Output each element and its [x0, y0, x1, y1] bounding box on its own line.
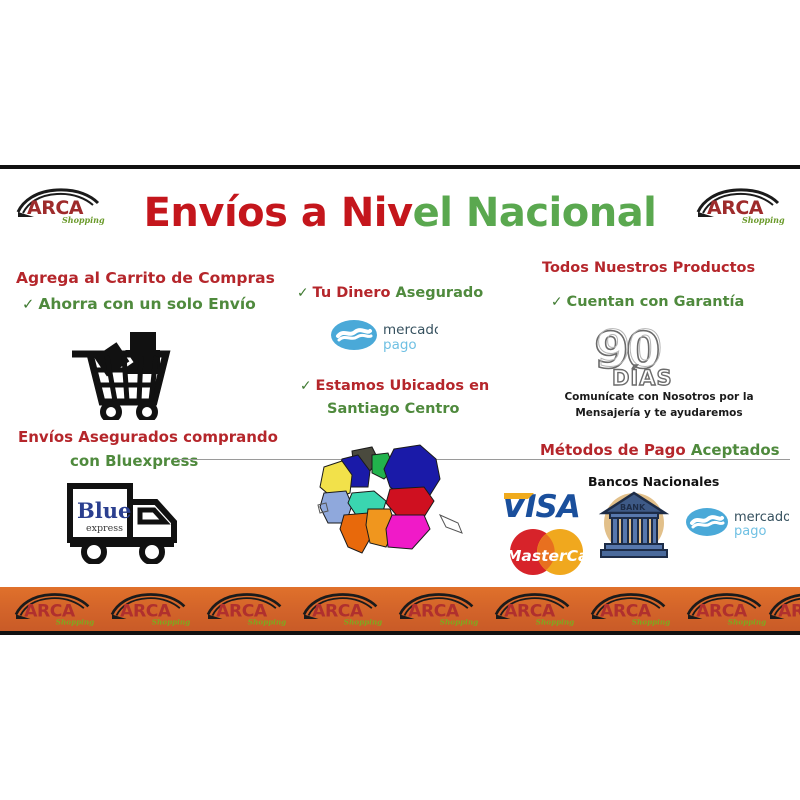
svg-text:MasterCard: MasterCard: [506, 547, 592, 565]
check-icon: ✓: [22, 296, 34, 313]
strip-arca-logo: ARCAShopping: [300, 591, 384, 629]
santiago-region-map: [312, 443, 467, 573]
payments-heading-red: Métodos de Pago: [540, 441, 691, 459]
mastercard-logo: MasterCard: [500, 528, 592, 581]
warranty-note: Comunícate con Nosotros por la Mensajerí…: [553, 390, 765, 422]
warranty-90-days-badge: 90 90 DÍAS: [592, 322, 696, 393]
svg-text:mercado: mercado: [383, 322, 438, 338]
svg-text:Shopping: Shopping: [536, 617, 574, 626]
svg-text:ARCA: ARCA: [778, 601, 800, 621]
mercado-pago-logo-center: mercado pago: [330, 318, 438, 363]
svg-text:Shopping: Shopping: [56, 617, 94, 626]
page-title-red: Envíos a Niv: [144, 190, 413, 236]
money-claim-green: Asegurado: [396, 285, 484, 301]
shipping-claim-line1-text: Envíos Asegurados comprando: [18, 428, 278, 446]
svg-text:express: express: [86, 523, 123, 534]
svg-text:Shopping: Shopping: [248, 617, 286, 626]
svg-text:Shopping: Shopping: [440, 617, 478, 626]
svg-text:Shopping: Shopping: [344, 617, 382, 626]
shipping-claim-line2-text: con Bluexpress: [70, 452, 198, 470]
shipping-claim-line1: Envíos Asegurados comprando: [18, 428, 278, 446]
strip-arca-logo: ARCAShopping: [396, 591, 480, 629]
location-claim-line1: ✓Estamos Ubicados en: [300, 378, 489, 394]
svg-text:pago: pago: [734, 524, 766, 539]
shipping-claim-line2: con Bluexpress: [70, 452, 198, 470]
svg-text:pago: pago: [383, 337, 417, 353]
visa-logo: VISA: [500, 487, 590, 530]
warranty-note-line2: Mensajería y te ayudaremos: [553, 406, 765, 422]
warranty-note-line1: Comunícate con Nosotros por la: [553, 390, 765, 406]
check-icon: ✓: [300, 378, 312, 394]
bottom-divider: [0, 631, 800, 635]
payments-heading-green: Aceptados: [691, 441, 780, 459]
page-title: Envíos a Nivel Nacional: [0, 192, 800, 234]
strip-arca-logo: ARCAShopping: [588, 591, 672, 629]
strip-arca-logo: ARCAShopping: [12, 591, 96, 629]
check-icon: ✓: [551, 294, 563, 310]
top-divider: [0, 165, 800, 169]
svg-text:mercado: mercado: [734, 510, 789, 525]
bank-icon: BANK: [597, 489, 671, 566]
warranty-claim-line2: ✓Cuentan con Garantía: [551, 294, 744, 310]
svg-text:BANK: BANK: [620, 503, 646, 512]
location-claim-line2: Santiago Centro: [327, 401, 459, 417]
money-claim-line1: ✓Tu Dinero Asegurado: [297, 285, 483, 301]
cart-claim-line1-text: Agrega al Carrito de Compras: [16, 269, 275, 287]
warranty-claim-line2-text: Cuentan con Garantía: [567, 294, 745, 310]
check-icon: ✓: [297, 285, 309, 301]
strip-arca-logo: ARCAShopping: [492, 591, 576, 629]
strip-arca-logo: ARCAShopping: [204, 591, 288, 629]
strip-arca-logo: ARCAShopping: [684, 591, 768, 629]
strip-arca-logo: ARCAShopping: [766, 591, 800, 629]
delivery-truck-icon: Blue express: [64, 478, 184, 569]
payments-heading: Métodos de Pago Aceptados: [540, 441, 780, 459]
shopping-cart-icon: [68, 328, 178, 425]
cart-claim-line2-text: Ahorra con un solo Envío: [38, 295, 255, 313]
money-claim-red: Tu Dinero: [313, 285, 396, 301]
banks-label: Bancos Nacionales: [588, 474, 719, 489]
warranty-claim-line1-text: Todos Nuestros Productos: [542, 260, 755, 276]
cart-claim-line2: ✓Ahorra con un solo Envío: [22, 295, 256, 313]
page-title-green: el Nacional: [413, 190, 657, 236]
svg-text:Shopping: Shopping: [728, 617, 766, 626]
cart-claim-line1: Agrega al Carrito de Compras: [16, 269, 275, 287]
warranty-claim-line1: Todos Nuestros Productos: [542, 260, 755, 276]
strip-arca-logo: ARCAShopping: [108, 591, 192, 629]
location-claim-line2-text: Santiago Centro: [327, 401, 459, 417]
svg-text:Shopping: Shopping: [632, 617, 670, 626]
location-claim-line1-text: Estamos Ubicados en: [316, 378, 490, 394]
divider-right: [430, 459, 790, 460]
mercado-pago-logo-payments: mercado pago: [685, 505, 789, 548]
svg-text:Shopping: Shopping: [152, 617, 190, 626]
bottom-logo-strip: ARCAShopping ARCAShopping ARCAShopping A…: [0, 587, 800, 633]
promotional-banner: ARCA Shopping ARCA Shopping Envíos a Niv…: [0, 0, 800, 800]
svg-text:DÍAS: DÍAS: [612, 365, 673, 388]
svg-text:Blue: Blue: [77, 498, 131, 523]
